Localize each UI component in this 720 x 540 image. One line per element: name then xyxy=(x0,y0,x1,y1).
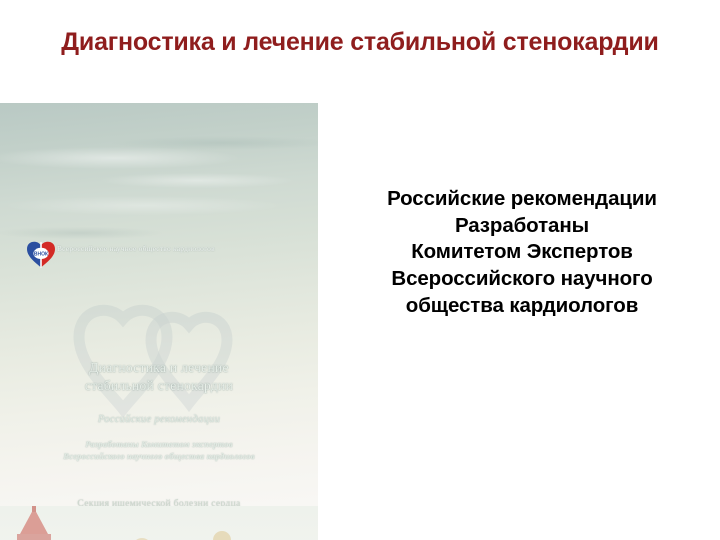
cover-title-line-1: Диагностика и лечение xyxy=(89,360,229,375)
cover-developed-line-1: Разработаны Комитетом экспертов xyxy=(85,439,233,449)
cover-title-line-2: стабильной стенокардии xyxy=(85,378,233,393)
body-text-block: Российские рекомендации Разработаны Коми… xyxy=(330,186,714,319)
body-line-3: Комитетом Экспертов xyxy=(330,239,714,266)
cover-subtitle: Российские рекомендации xyxy=(0,414,318,425)
kremlin-photo xyxy=(0,506,318,540)
body-line-1: Российские рекомендации xyxy=(330,186,714,213)
body-line-5: общества кардиологов xyxy=(330,293,714,320)
cover-organization-text: Всероссийское научное общество кардиолог… xyxy=(57,244,307,253)
book-cover-image: ВНОК Всероссийское научное общество кард… xyxy=(0,103,318,540)
page-title: Диагностика и лечение стабильной стенока… xyxy=(38,26,682,58)
cover-title: Диагностика и лечение стабильной стенока… xyxy=(0,359,318,395)
svg-text:ВНОК: ВНОК xyxy=(34,252,49,258)
body-line-2: Разработаны xyxy=(330,213,714,240)
cover-developed-by: Разработаны Комитетом экспертов Всеросси… xyxy=(0,438,318,462)
cover-developed-line-2: Всероссийского научного общества кардиол… xyxy=(63,451,254,461)
vnok-heart-logo-icon: ВНОК xyxy=(24,238,58,269)
body-line-4: Всероссийского научного xyxy=(330,266,714,293)
